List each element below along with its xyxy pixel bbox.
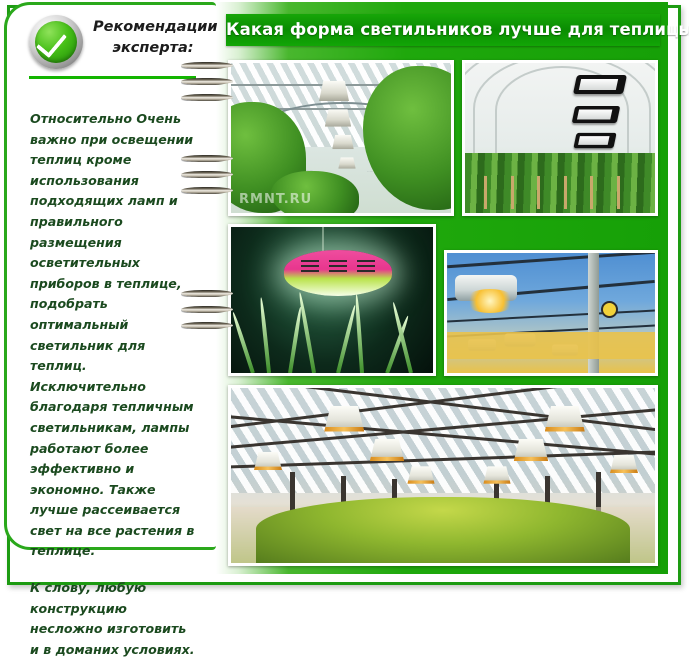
gallery-photo-5[interactable] [228,385,658,566]
photo-watermark: RMNT.RU [239,192,312,207]
spiral-ring [181,187,233,194]
expert-title-line-1: Рекомендации [93,17,213,38]
spiral-binding-group-3 [181,290,233,338]
expert-card-title: Рекомендации эксперта: [93,17,213,59]
right-green-panel: Какая форма светильников лучше для тепли… [216,2,668,574]
spiral-ring [181,290,233,297]
wide-greenhouse-lettuce-scene [231,388,655,563]
spiral-ring [181,78,233,85]
title-bar: Какая форма светильников лучше для тепли… [226,14,660,46]
expert-paragraph-2: К слову, любую конструкцию несложно изго… [30,578,198,660]
led-grow-light-scene [231,227,433,373]
gallery-photo-4[interactable] [444,250,658,376]
spiral-ring [181,171,233,178]
greenhouse-bell-lamps-scene: RMNT.RU [231,63,451,213]
panel-inner: Какая форма светильников лучше для тепли… [216,2,668,574]
expert-card-body: Относительно Очень важно при освещении т… [30,109,198,660]
spiral-ring [181,155,233,162]
page-title: Какая форма светильников лучше для тепли… [226,14,660,46]
title-divider [29,76,196,79]
spiral-ring [181,322,233,329]
gallery-photo-3[interactable] [228,224,436,376]
spiral-binding-group-1 [181,62,233,110]
spiral-binding-group-2 [181,155,233,203]
gallery-photo-1[interactable]: RMNT.RU [228,60,454,216]
gallery-photo-2[interactable] [462,60,658,216]
spiral-ring [181,62,233,69]
expert-paragraph-1: Относительно Очень важно при освещении т… [30,109,198,562]
expert-title-line-2: эксперта: [93,38,213,59]
page-root: Какая форма светильников лучше для тепли… [0,0,689,597]
spiral-ring [181,306,233,313]
green-check-badge-icon [29,15,83,69]
spiral-ring [181,94,233,101]
polytunnel-panel-lamps-scene [465,63,655,213]
industrial-greenhouse-lamps-scene [447,253,655,373]
